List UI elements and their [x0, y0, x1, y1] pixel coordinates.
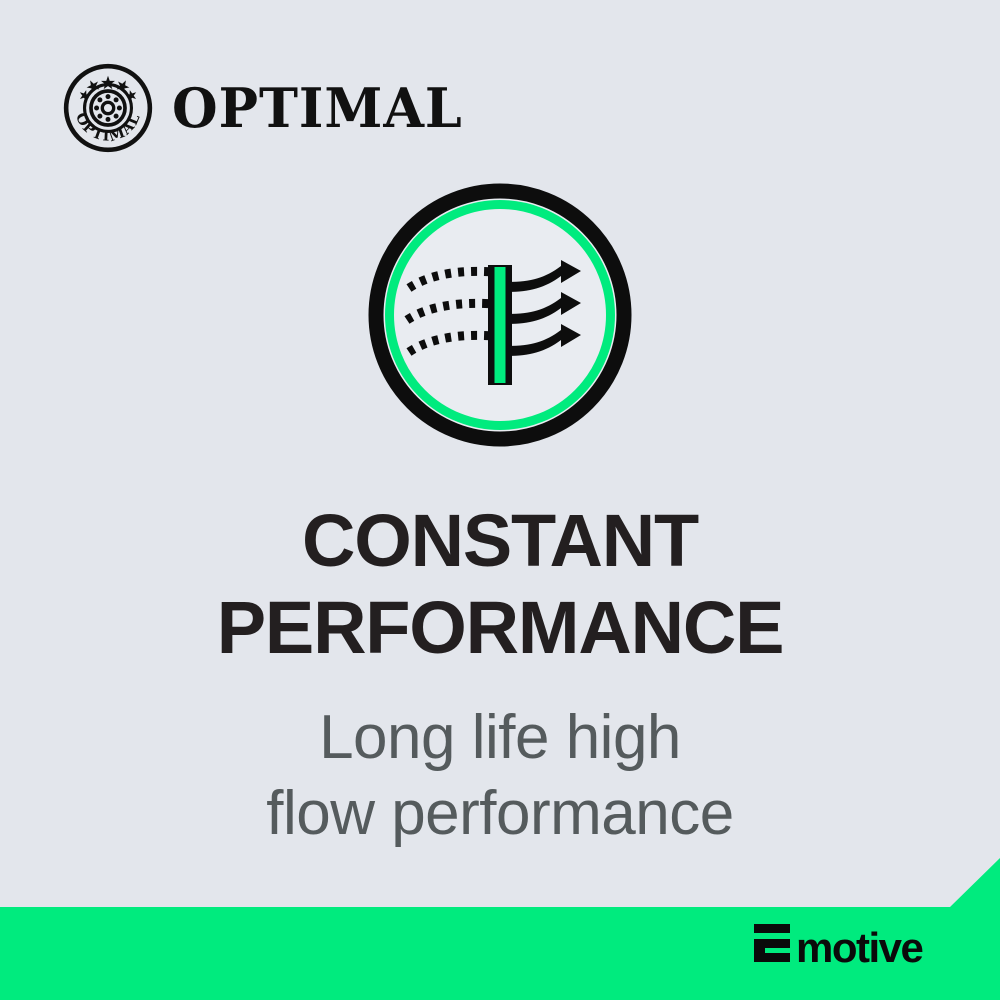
optimal-badge-icon: OPTIMAL [62, 62, 154, 154]
airflow-filter-icon [355, 170, 645, 460]
subhead-line-2: flow performance [0, 776, 1000, 852]
brand-header: OPTIMAL [62, 62, 472, 154]
subhead-line-1: Long life high [0, 700, 1000, 776]
optimal-wordmark: OPTIMAL [172, 81, 463, 135]
emotive-letter-e [754, 924, 790, 962]
promo-card: OPTIMAL [0, 0, 1000, 1000]
headline-line-2: PERFORMANCE [0, 585, 1000, 672]
headline-line-1: CONSTANT [0, 498, 1000, 585]
bearing-hub-icon [91, 91, 125, 125]
page-title: CONSTANT PERFORMANCE [0, 498, 1000, 671]
page-subtitle: Long life high flow performance [0, 700, 1000, 851]
emotive-wordmark-text: motive [796, 924, 923, 971]
footer-bar: motive [0, 850, 1000, 1000]
emotive-logo: motive [752, 928, 964, 974]
